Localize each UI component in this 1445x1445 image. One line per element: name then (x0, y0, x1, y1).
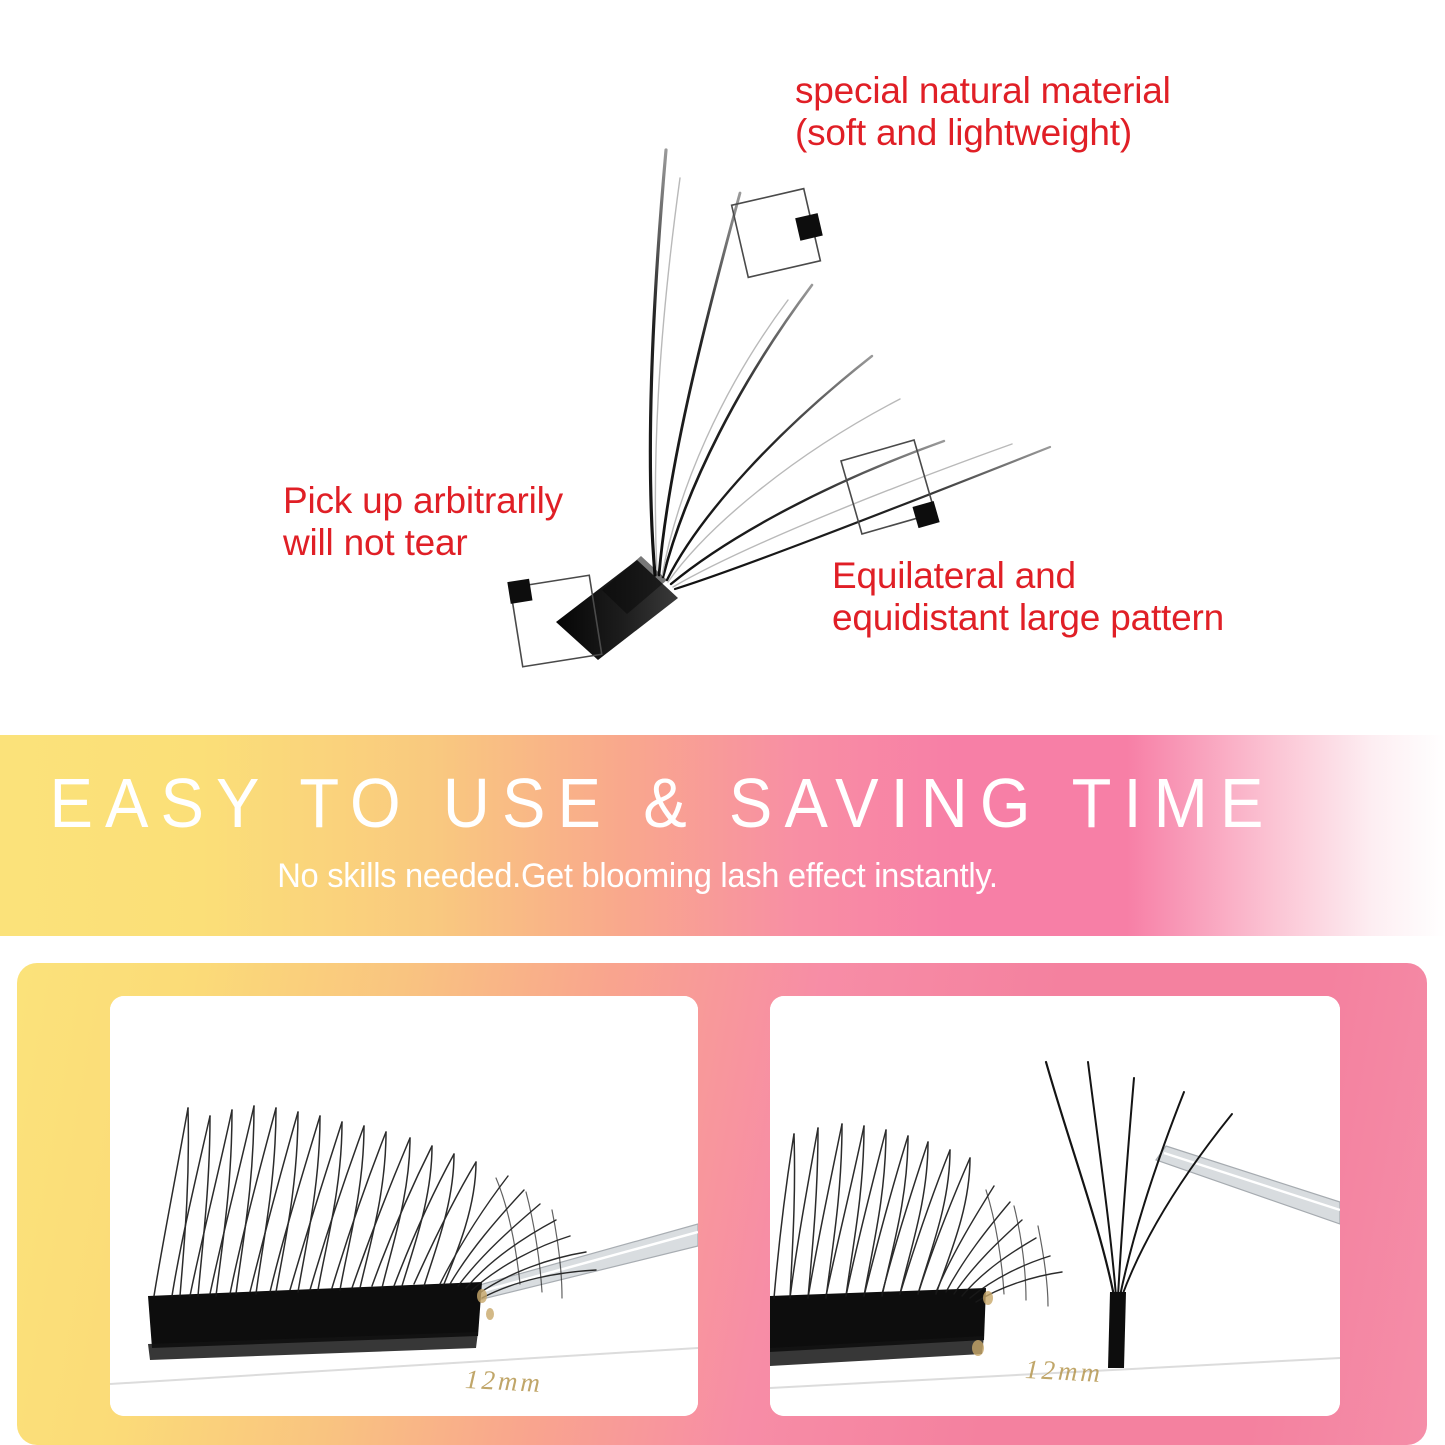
lash-length-label-left: 12mm (464, 1364, 544, 1399)
photo-card-lash-tray-tweezers: 12mm (110, 996, 698, 1416)
photo-card-lash-fan-lifted: 12mm (770, 996, 1340, 1416)
lash-fibers (650, 150, 1050, 589)
lash-fan-lifted-image (770, 996, 1340, 1416)
marker-mid-icon (841, 439, 940, 543)
lash-fan-illustration (0, 0, 1445, 712)
callout-pick-up-arbitrarily: Pick up arbitrarily will not tear (283, 480, 563, 564)
lash-fibers-secondary (655, 178, 1012, 587)
callout-special-natural-material: special natural material (soft and light… (795, 70, 1171, 154)
easy-to-use-banner: EASY TO USE & SAVING TIME No skills need… (0, 735, 1445, 936)
marker-top-icon (732, 187, 829, 278)
product-photos-panel: 12mm (17, 963, 1427, 1445)
lash-tray-tweezers-image (110, 996, 698, 1416)
lash-diagram-section: special natural material (soft and light… (0, 0, 1445, 712)
lash-length-label-right: 12mm (1024, 1354, 1104, 1389)
banner-subtitle: No skills needed.Get blooming lash effec… (26, 857, 1250, 896)
callout-equilateral-equidistant: Equilateral and equidistant large patter… (832, 555, 1224, 639)
banner-headline: EASY TO USE & SAVING TIME (46, 763, 1278, 843)
